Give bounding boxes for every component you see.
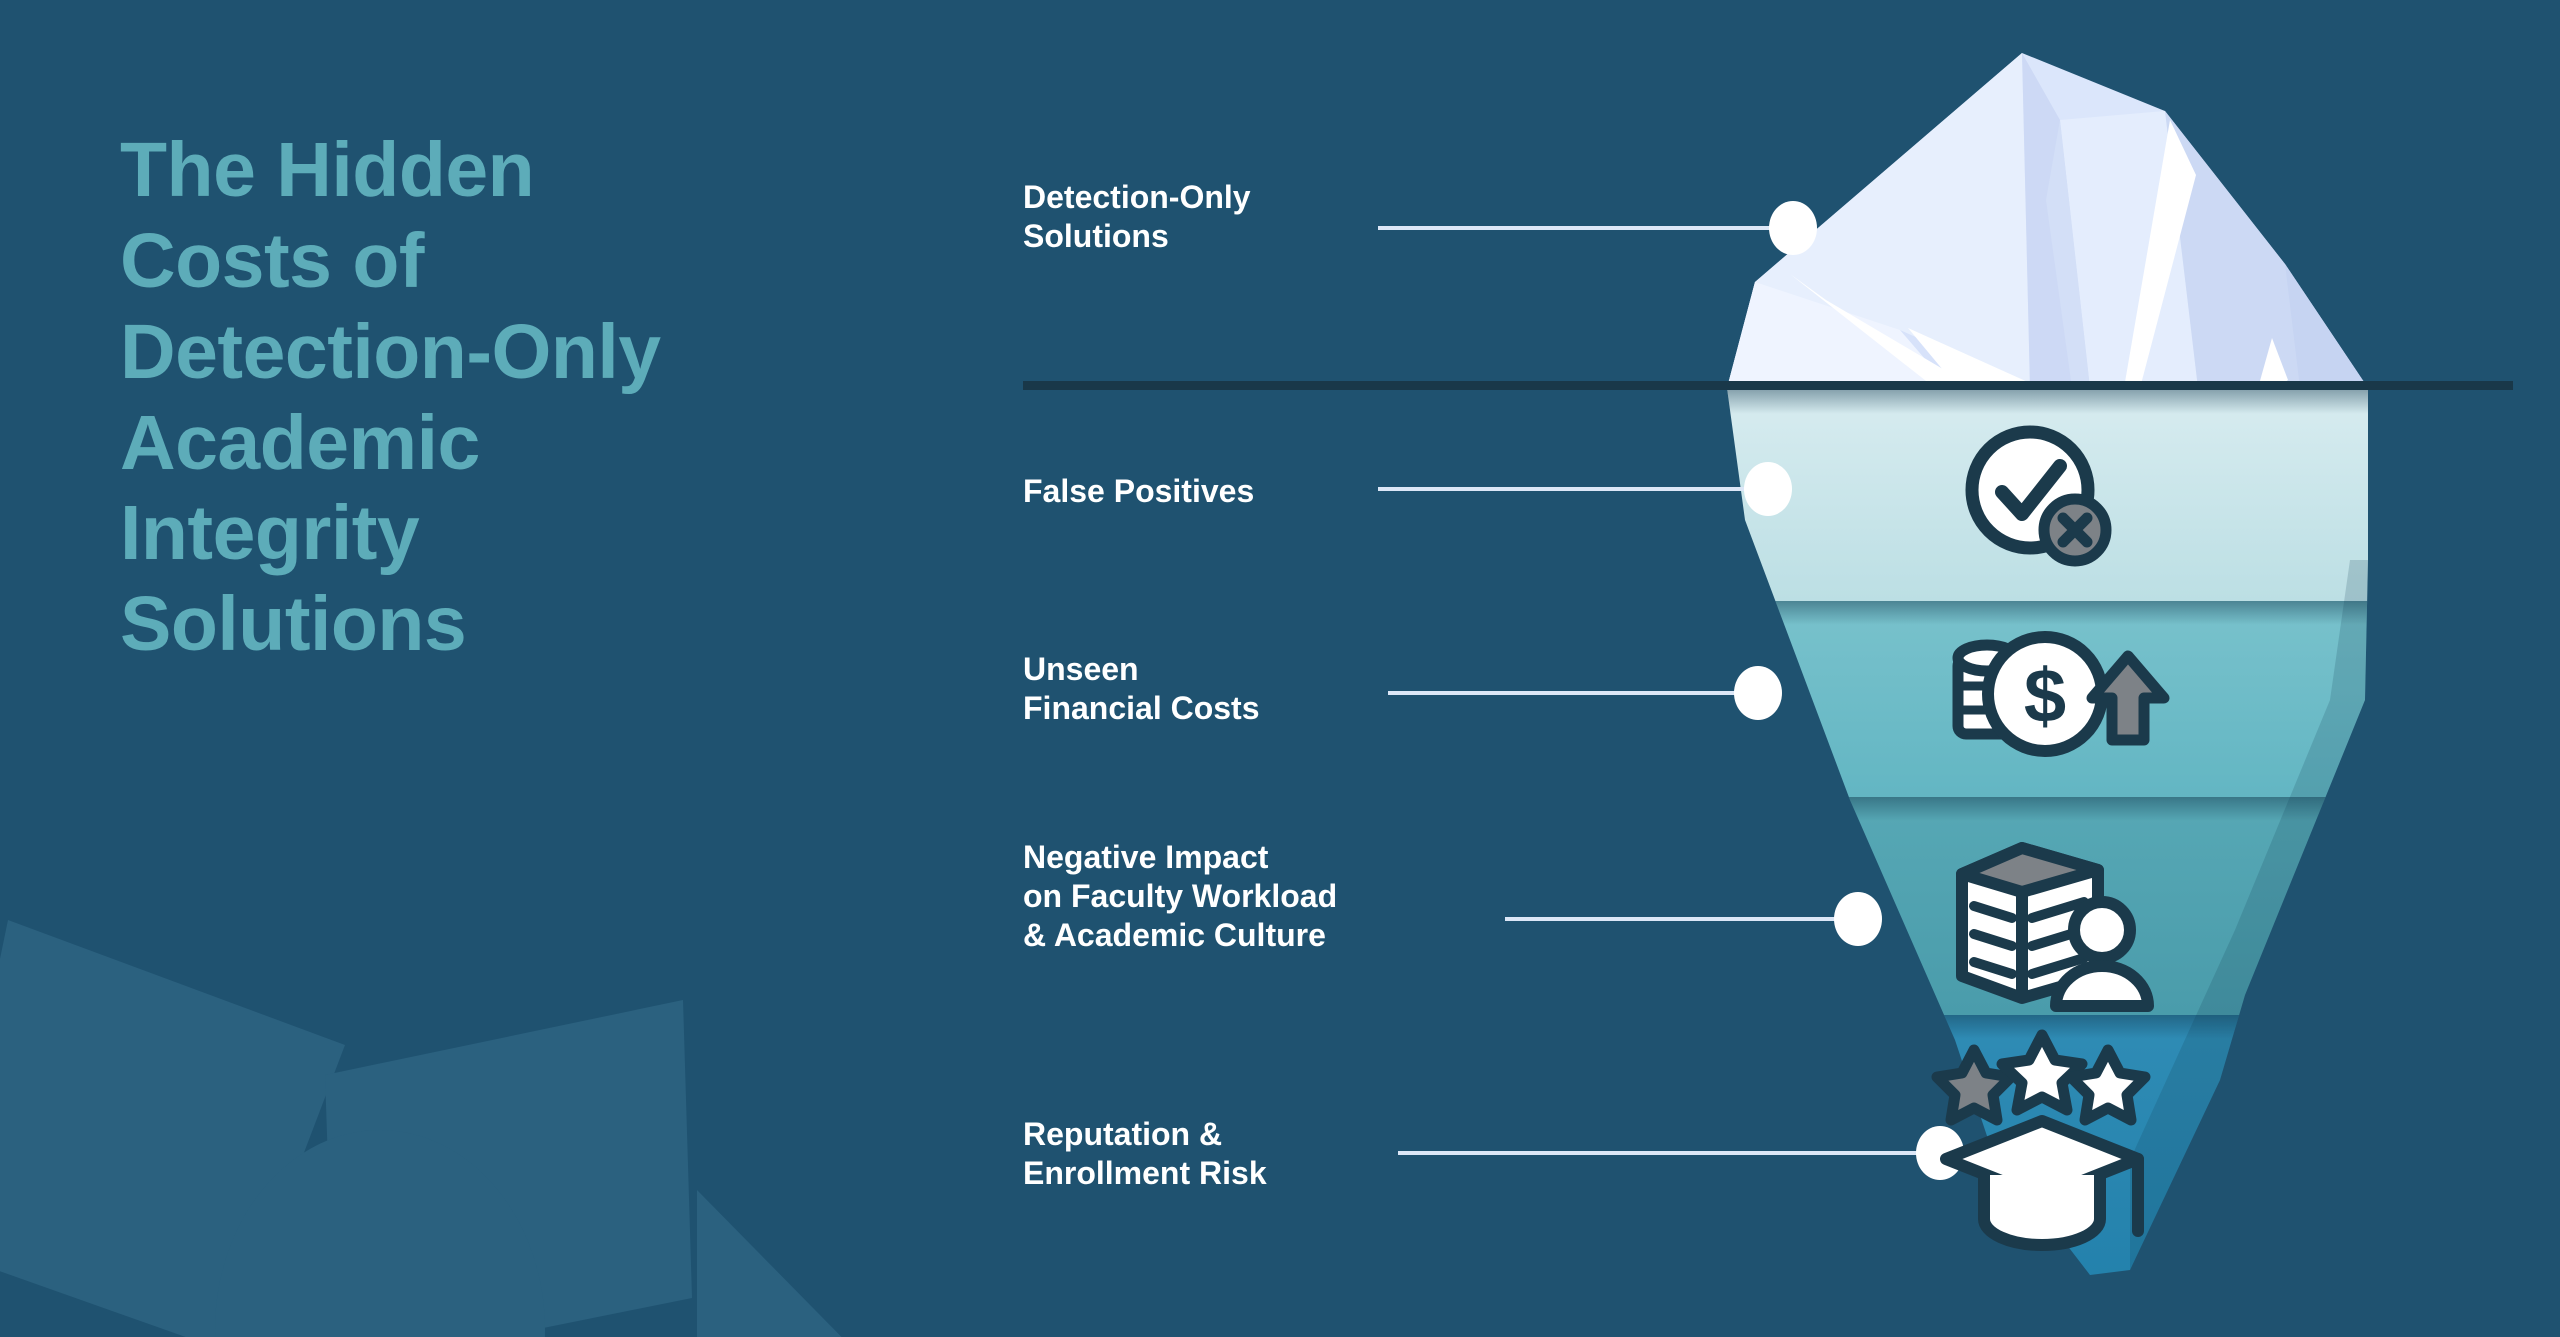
iceberg-diagram: $ [0,0,2560,1337]
callout-label-detection-only-solutions: Detection-Only Solutions [1023,178,1251,256]
connector-dot-3 [1834,892,1882,946]
money-up-icon: $ [1958,637,2164,751]
svg-text:$: $ [2024,654,2066,739]
callout-label-reputation-enrollment-risk: Reputation & Enrollment Risk [1023,1115,1267,1193]
connector-dot-1 [1744,462,1792,516]
waterline [1023,381,2513,390]
callout-label-faculty-workload: Negative Impact on Faculty Workload & Ac… [1023,838,1337,955]
callout-label-false-positives: False Positives [1023,472,1254,511]
iceberg-peak [1727,53,2368,425]
infographic-canvas: The Hidden Costs of Detection-Only Acade… [0,0,2560,1337]
callout-label-unseen-financial-costs: Unseen Financial Costs [1023,650,1260,728]
connector-dot-0 [1769,201,1817,255]
connector-dot-2 [1734,666,1782,720]
